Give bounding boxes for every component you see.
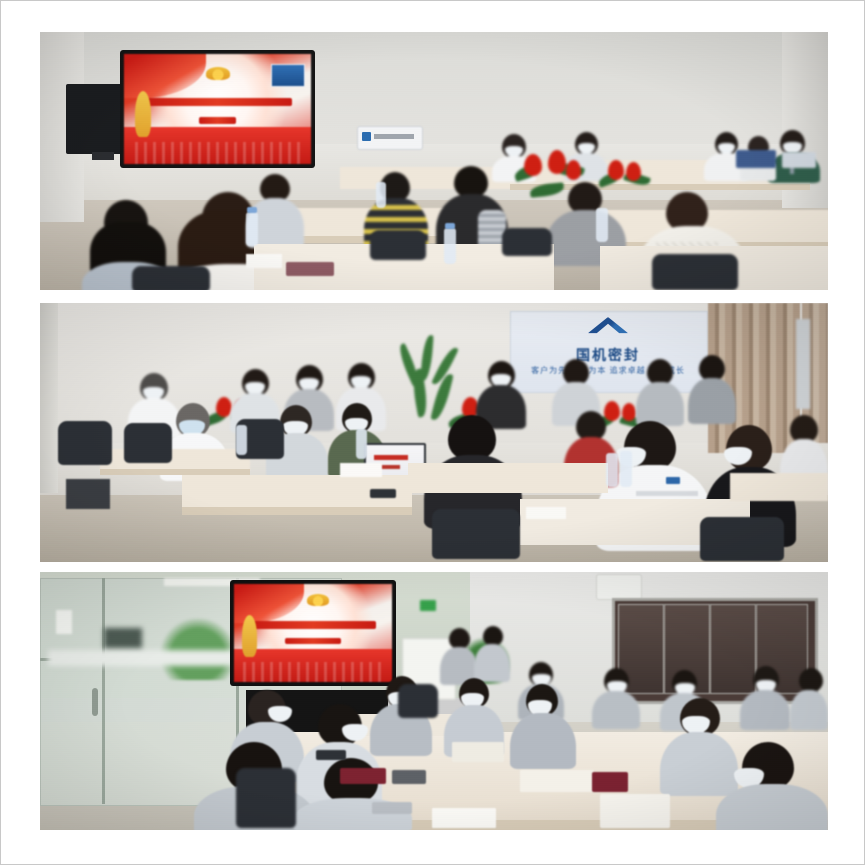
chair-left-empty-1: [58, 421, 112, 465]
back-table-box: [736, 150, 776, 168]
notebook-cover: [592, 772, 628, 792]
notice-paper-on-glass: [56, 610, 72, 634]
interior-monitor-behind-glass: [104, 628, 142, 648]
phone-on-table-1: [316, 750, 346, 760]
table-center: [408, 463, 608, 493]
water-bottle-2: [444, 228, 456, 264]
bottle-d: [620, 451, 632, 487]
table-left-front-edge: [182, 507, 412, 515]
side-monitor-stand: [92, 152, 114, 160]
chair-front-center: [432, 509, 520, 559]
chair-left-empty-2: [124, 423, 172, 463]
slide-figure-graphic: [135, 91, 151, 137]
paper-sheet: [246, 254, 282, 268]
paper-on-table-2: [526, 507, 566, 519]
photo-panel-2: 国机密封 客户为先 奋斗为本 追求卓越 共同成长: [40, 303, 828, 562]
slide-subtitle-line: [285, 638, 342, 644]
tv-screen: [234, 584, 392, 682]
chair-panel3-2: [398, 684, 438, 718]
bottle-b: [356, 429, 367, 459]
photo-collage: 国机密封 客户为先 奋斗为本 追求卓越 共同成长: [40, 32, 828, 830]
person-row1-h: [688, 355, 736, 423]
person-row1-g: [636, 359, 684, 425]
booklet-held-right: [452, 742, 504, 762]
collage-page: 国机密封 客户为先 奋斗为本 追求卓越 共同成长: [0, 0, 865, 865]
person-foreground-right: [716, 742, 828, 830]
interior-plant-behind-glass: [160, 618, 236, 680]
person-seated-right-b: [510, 684, 576, 766]
table-left-back: [100, 449, 250, 471]
table-far-right: [730, 473, 828, 501]
slide-skyline-graphic: [234, 649, 392, 682]
window-frame-right: [796, 319, 810, 409]
person-standing-a: [440, 628, 478, 684]
chair-foreground-1: [132, 266, 210, 290]
chair-panel3-1: [236, 768, 296, 828]
slide-title-line-2: [199, 117, 236, 124]
photo-panel-3: [40, 572, 828, 830]
notebook-on-table: [286, 262, 334, 276]
glass-door-handle: [92, 688, 98, 716]
glass-mullion-vertical: [102, 578, 105, 804]
slide-figure-graphic: [242, 615, 257, 657]
chair-left-empty-1-base: [66, 479, 110, 509]
person-standing-b: [474, 626, 510, 682]
wall-pillar-left: [40, 303, 58, 493]
booklet-held-foreground: [600, 794, 670, 828]
person-row-back-d: [592, 668, 640, 728]
bottle-a: [236, 425, 247, 455]
photo-panel-1: [40, 32, 828, 290]
chair-front-right: [700, 517, 784, 561]
tv-screen: [124, 54, 311, 164]
party-emblem-icon: [307, 594, 329, 606]
phone-on-table: [370, 489, 396, 498]
water-bottle-3: [596, 208, 608, 242]
bottle-c: [606, 453, 618, 487]
back-table-box-2: [782, 152, 816, 168]
wall-panel-label: [374, 134, 414, 139]
notebook-open: [520, 770, 594, 792]
air-conditioner: [596, 574, 642, 600]
chair-foreground-2: [652, 254, 738, 290]
paper-foreground: [432, 808, 496, 828]
wall-panel-logo-icon: [362, 132, 371, 141]
uniform-logo-patch: [666, 477, 680, 484]
slide-skyline-graphic: [124, 127, 311, 164]
slide-title-line: [250, 621, 376, 629]
chair-mid-2: [502, 228, 552, 256]
water-bottle-1: [246, 212, 258, 246]
water-bottle-4: [376, 182, 386, 208]
water-bottle-cap-2: [445, 223, 455, 229]
phone-on-table-2: [372, 802, 412, 814]
chair-mid-1: [370, 230, 426, 260]
water-bottle-cap-1: [247, 207, 257, 213]
exit-sign: [420, 600, 436, 611]
person-row-back-f: [740, 666, 790, 728]
person-row-back-g: [790, 668, 828, 728]
booklet-1: [340, 768, 386, 784]
slide-badge-icon: [271, 64, 305, 87]
slide-title-line-1: [143, 98, 293, 106]
paper-on-table-1: [340, 463, 382, 477]
party-emblem-icon: [206, 67, 230, 80]
booklet-2: [392, 770, 426, 784]
